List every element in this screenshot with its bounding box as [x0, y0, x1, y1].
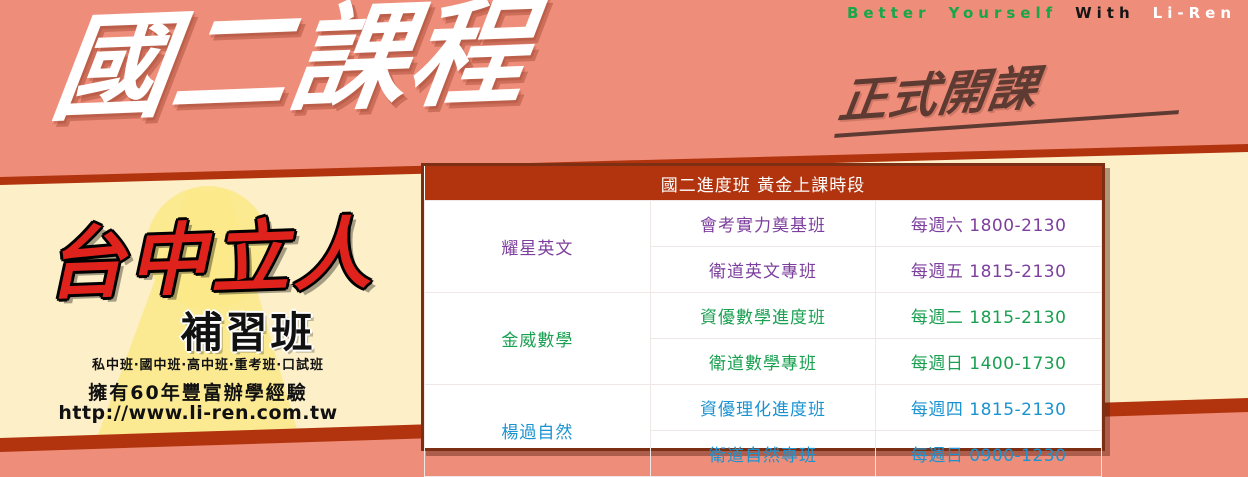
time-cell: 每週四 1815-2130	[876, 385, 1102, 431]
logo-categories: 私中班‧國中班‧高中班‧重考班‧口試班	[28, 354, 388, 373]
time-cell: 每週二 1815-2130	[876, 293, 1102, 339]
tagline-word-liren: Li-Ren	[1153, 4, 1236, 22]
logo-url[interactable]: http://www.li-ren.com.tw	[28, 402, 368, 424]
page-title: 國二課程	[46, 0, 867, 128]
course-cell: 資優數學進度班	[650, 293, 876, 339]
subject-cell: 楊過自然	[425, 385, 651, 477]
table-row: 耀星英文會考實力奠基班每週六 1800-2130	[425, 201, 1102, 247]
tagline-word-with: With	[1075, 4, 1135, 22]
logo-brand-sub: 補習班	[123, 308, 373, 358]
course-cell: 衛道自然專班	[650, 431, 876, 477]
promo-banner: BetterYourselfWithLi-Ren 國二課程 正式開課 台中立人 …	[0, 0, 1248, 477]
subject-cell: 金威數學	[425, 293, 651, 385]
time-cell: 每週日 0900-1230	[876, 431, 1102, 477]
course-cell: 資優理化進度班	[650, 385, 876, 431]
time-cell: 每週六 1800-2130	[876, 201, 1102, 247]
tagline-word-yourself: Yourself	[948, 4, 1057, 22]
logo-experience: 擁有60年豐富辦學經驗	[28, 378, 368, 405]
course-cell: 衛道英文專班	[650, 247, 876, 293]
table-row: 楊過自然資優理化進度班每週四 1815-2130	[425, 385, 1102, 431]
time-cell: 每週五 1815-2130	[876, 247, 1102, 293]
course-cell: 衛道數學專班	[650, 339, 876, 385]
logo-brand: 台中立人	[36, 198, 385, 322]
schedule-body: 耀星英文會考實力奠基班每週六 1800-2130衛道英文專班每週五 1815-2…	[425, 201, 1102, 477]
table-row: 金威數學資優數學進度班每週二 1815-2130	[425, 293, 1102, 339]
schedule-header-row: 國二進度班 黃金上課時段	[425, 166, 1102, 201]
course-cell: 會考實力奠基班	[650, 201, 876, 247]
schedule-title: 國二進度班 黃金上課時段	[425, 166, 1102, 201]
logo: 台中立人 補習班 私中班‧國中班‧高中班‧重考班‧口試班 擁有60年豐富辦學經驗…	[28, 196, 388, 426]
headline-block: 國二課程	[62, 12, 862, 152]
subject-cell: 耀星英文	[425, 201, 651, 293]
subtitle-block: 正式開課	[845, 62, 1185, 142]
time-cell: 每週日 1400-1730	[876, 339, 1102, 385]
schedule-head: 國二進度班 黃金上課時段	[425, 166, 1102, 201]
schedule-grid: 國二進度班 黃金上課時段 耀星英文會考實力奠基班每週六 1800-2130衛道英…	[424, 166, 1102, 477]
schedule-table: 國二進度班 黃金上課時段 耀星英文會考實力奠基班每週六 1800-2130衛道英…	[421, 163, 1105, 451]
